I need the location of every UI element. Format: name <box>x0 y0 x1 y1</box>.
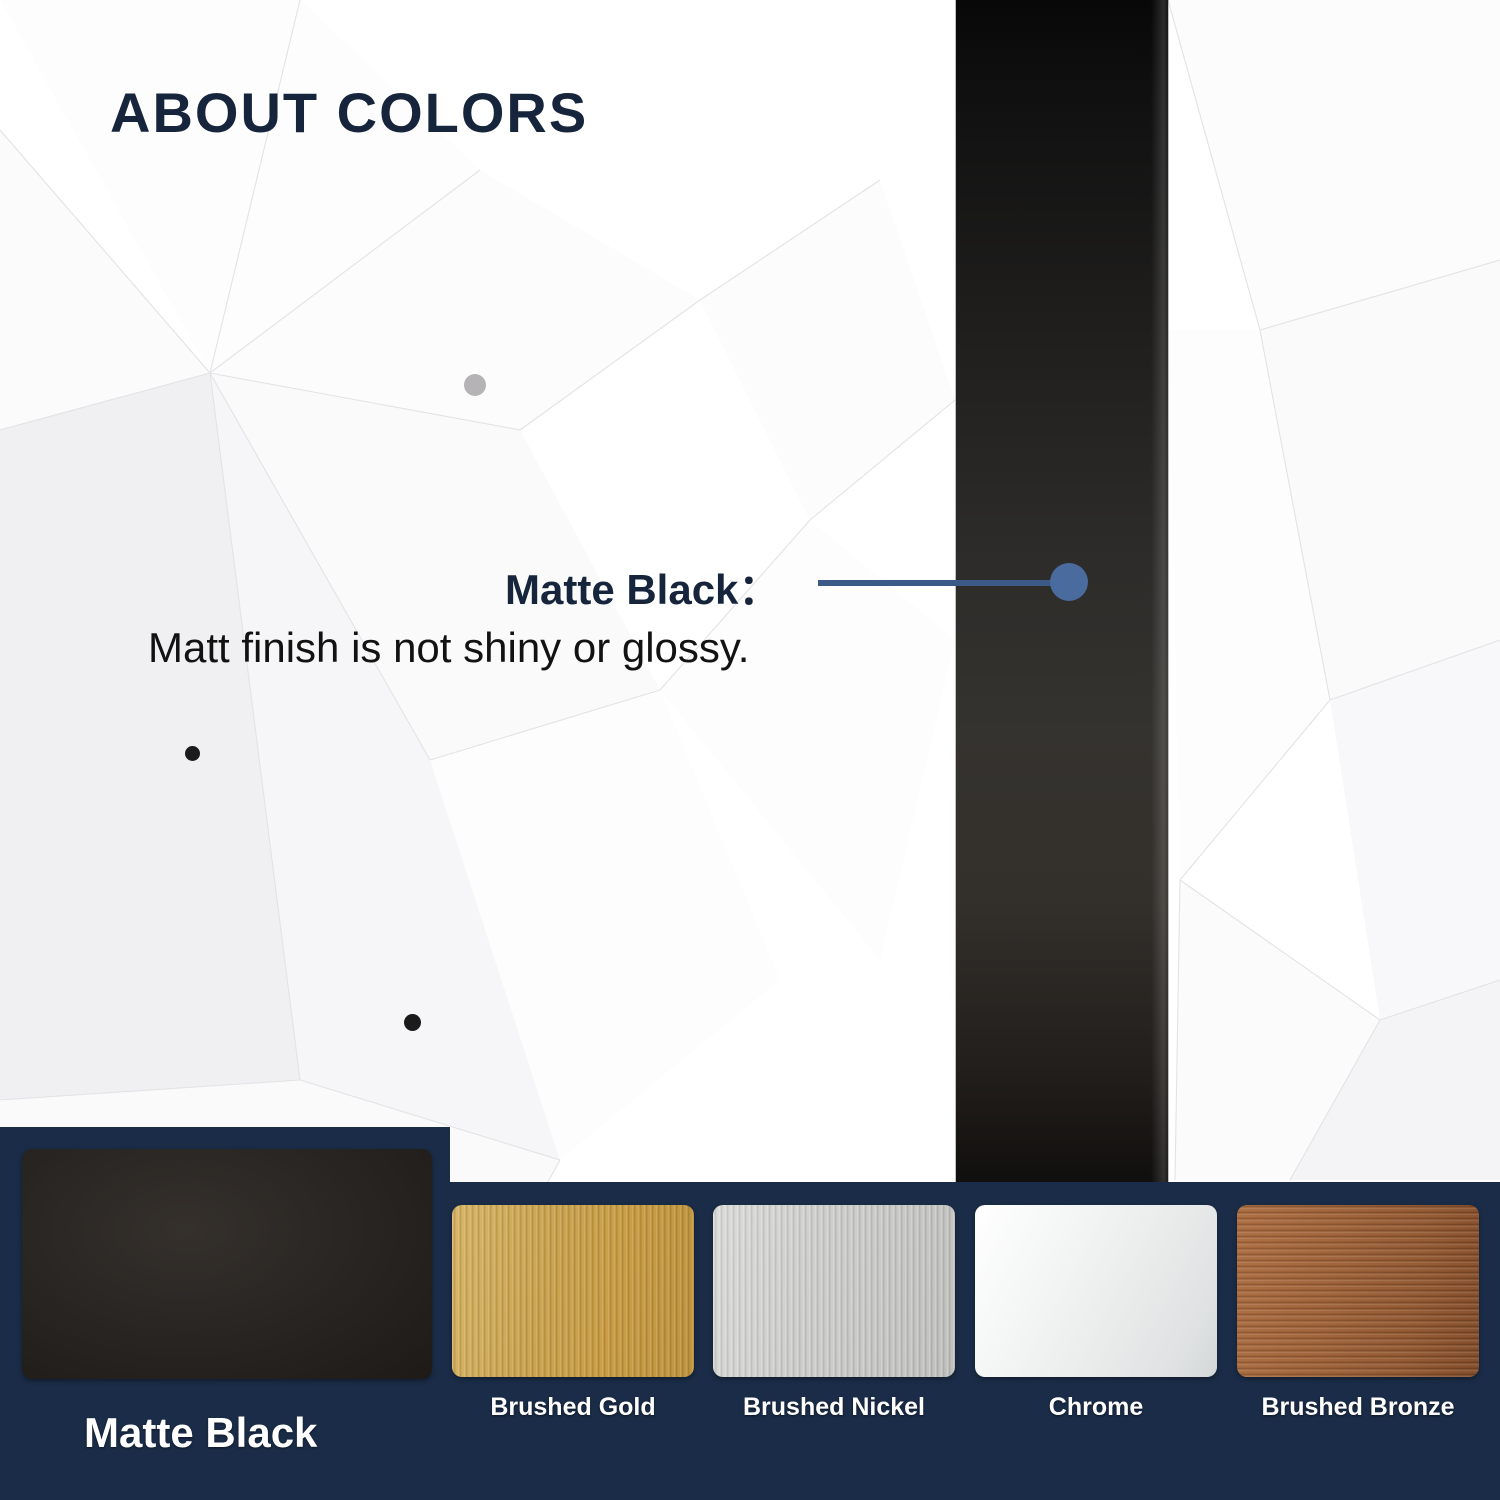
swatch-item-chrome[interactable]: Chrome <box>975 1205 1217 1422</box>
callout-description: Matt finish is not shiny or glossy. <box>148 624 749 672</box>
swatch-color-brushed-bronze[interactable] <box>1237 1205 1479 1377</box>
swatch-color-brushed-nickel[interactable] <box>713 1205 955 1377</box>
callout-leader-dot <box>1050 563 1088 601</box>
page-title: ABOUT COLORS <box>110 80 588 145</box>
color-swatch-panel: Matte Black Brushed Gold Brushed Nickel … <box>0 1127 1500 1500</box>
swatch-color-chrome[interactable] <box>975 1205 1217 1377</box>
callout-finish-name: Matte Black： <box>505 556 780 617</box>
swatch-item-brushed-gold[interactable]: Brushed Gold <box>452 1205 694 1422</box>
swatch-color-brushed-gold[interactable] <box>452 1205 694 1377</box>
swatch-label-brushed-gold: Brushed Gold <box>452 1393 694 1422</box>
swatch-label-brushed-nickel: Brushed Nickel <box>713 1393 955 1422</box>
black-dot-1 <box>185 746 200 761</box>
swatch-item-brushed-nickel[interactable]: Brushed Nickel <box>713 1205 955 1422</box>
gray-dot <box>464 374 486 396</box>
swatch-label-matte-black: Matte Black <box>22 1409 432 1457</box>
swatch-label-brushed-bronze: Brushed Bronze <box>1237 1393 1479 1422</box>
swatch-color-matte-black[interactable] <box>22 1149 432 1379</box>
swatch-label-chrome: Chrome <box>975 1393 1217 1422</box>
swatch-item-brushed-bronze[interactable]: Brushed Bronze <box>1237 1205 1479 1422</box>
infographic-page: ABOUT COLORS Matte Black： Matt finish is… <box>0 0 1500 1500</box>
black-dot-2 <box>404 1014 421 1031</box>
callout-leader-line <box>818 580 1066 586</box>
swatch-item-matte-black[interactable]: Matte Black <box>22 1149 432 1457</box>
